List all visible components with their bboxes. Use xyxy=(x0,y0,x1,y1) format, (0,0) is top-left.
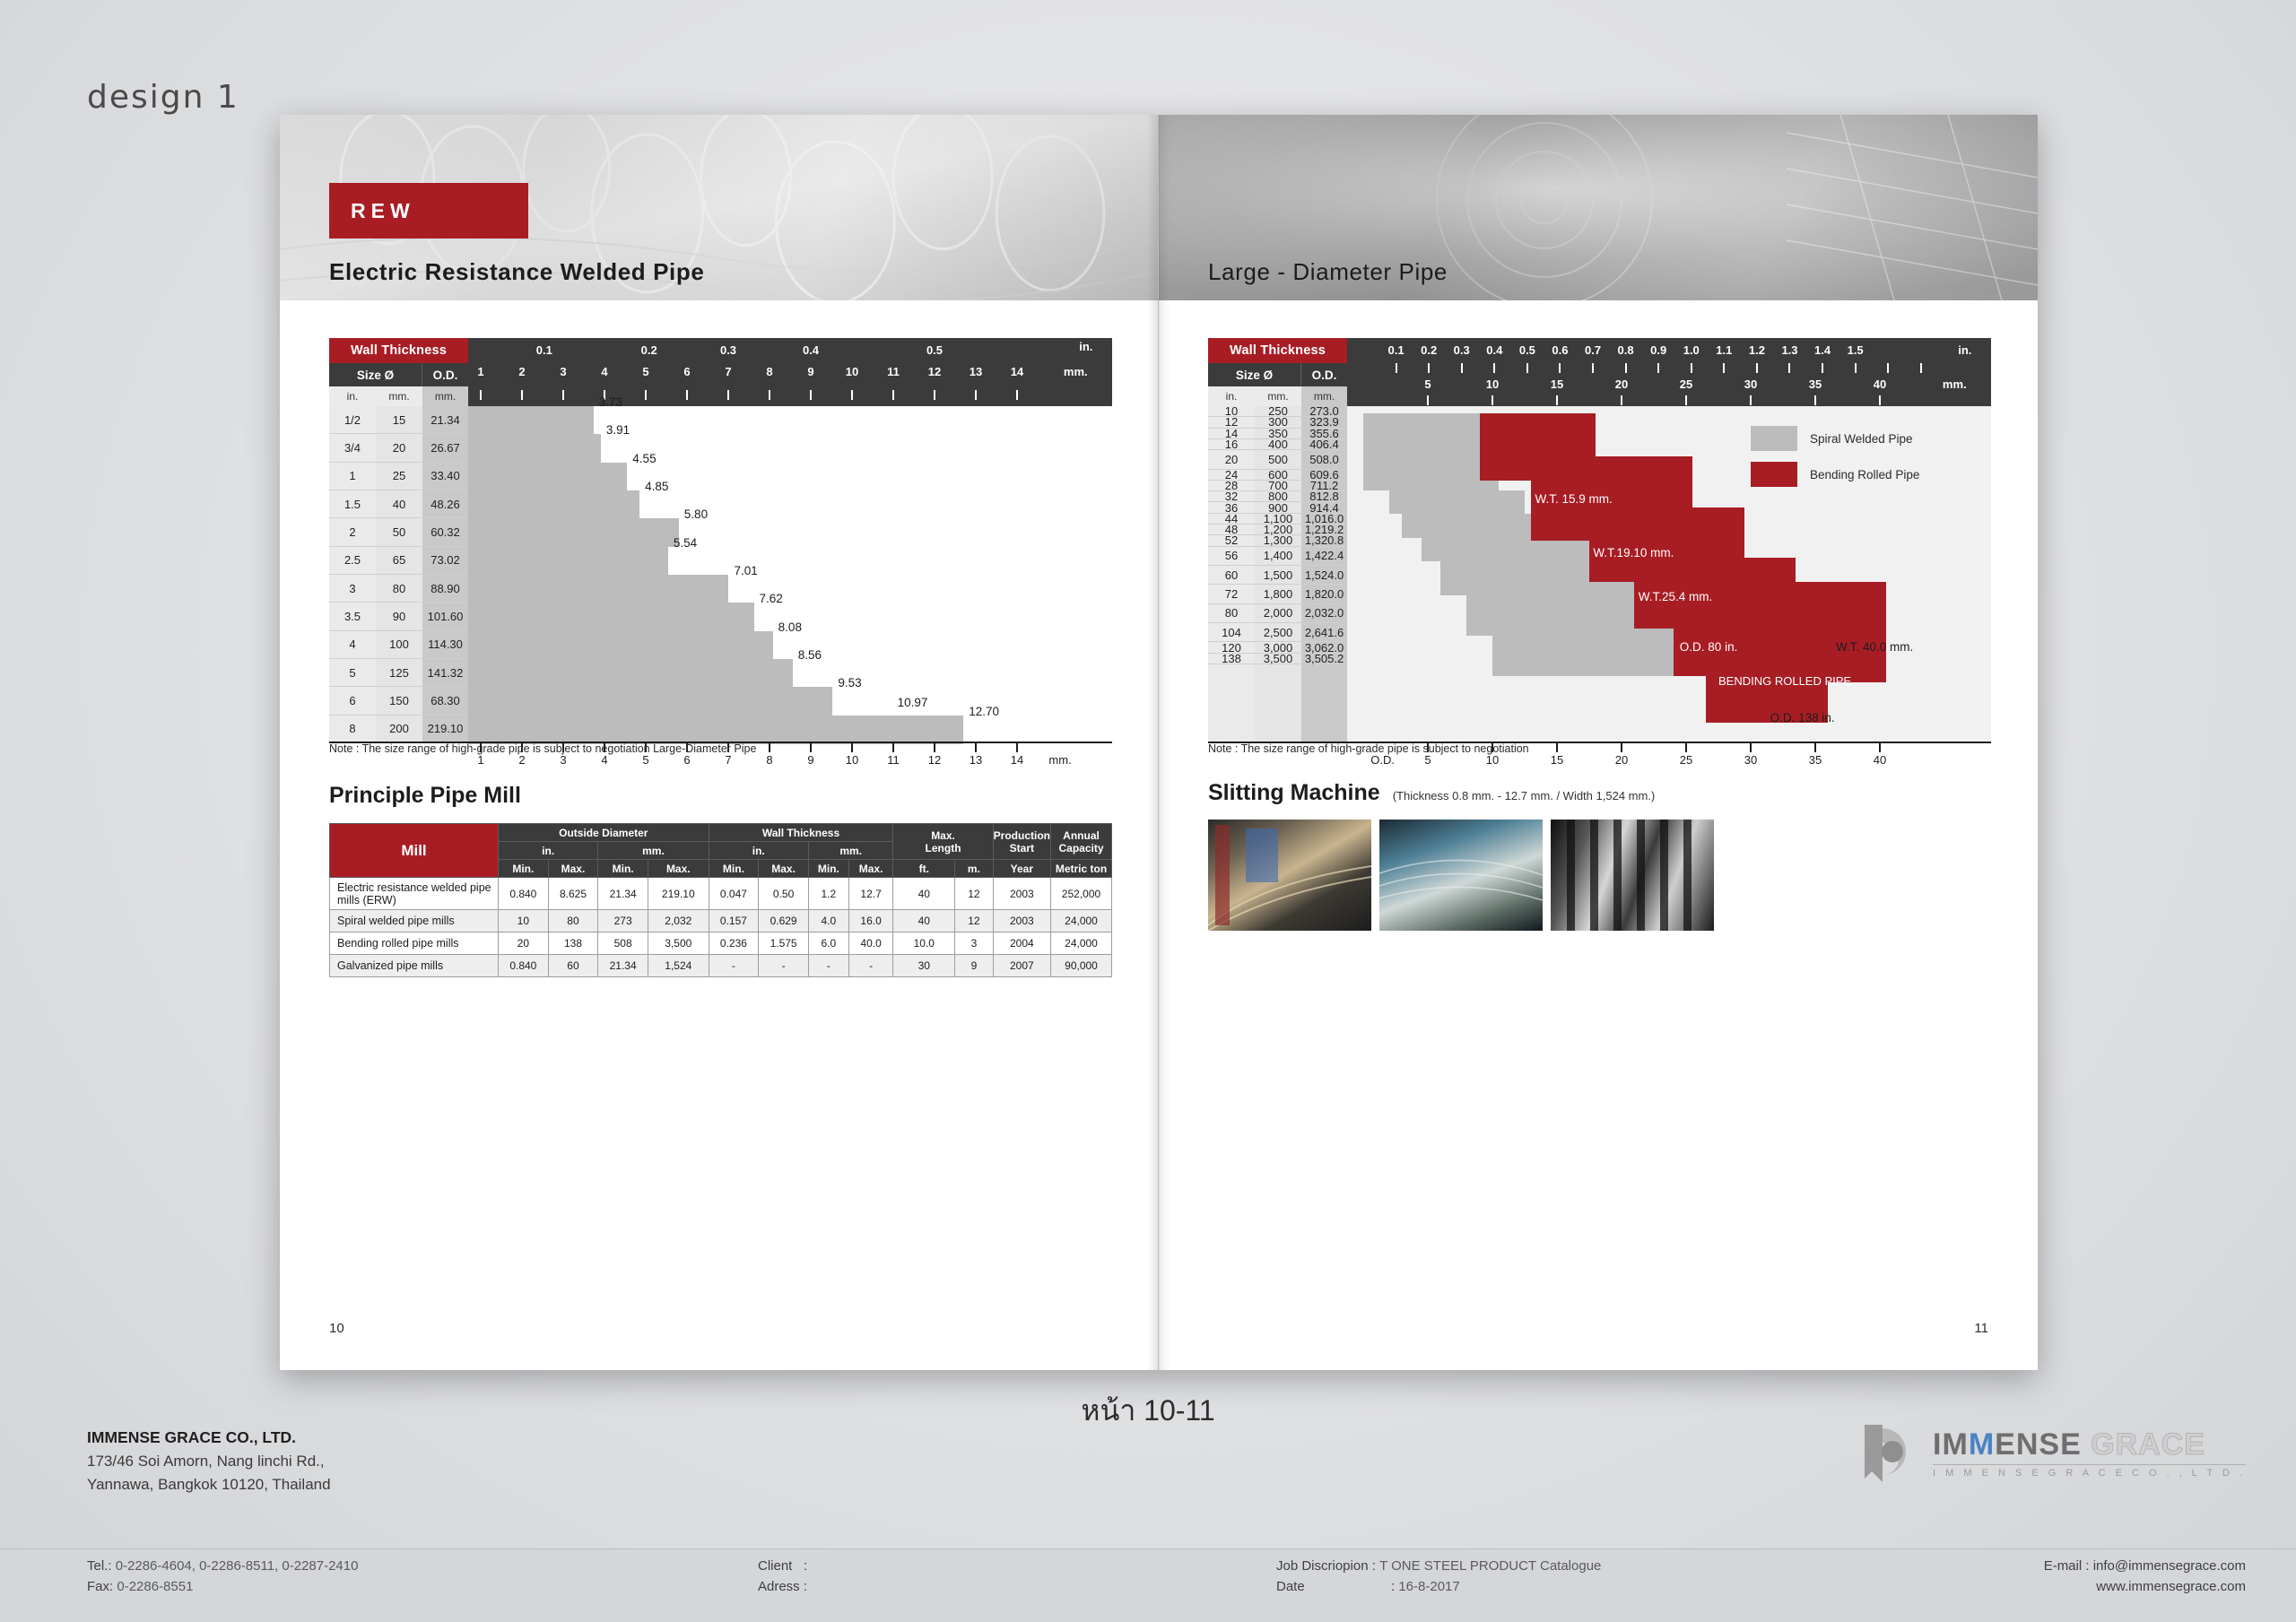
ldp-inch-tick xyxy=(1691,363,1692,373)
footer-job: Job Discriopion : T ONE STEEL PRODUCT Ca… xyxy=(1276,1556,1601,1598)
cell-od-mm-max: 1,524 xyxy=(648,955,709,977)
cell-wt-in-max: 0.629 xyxy=(759,910,809,932)
ppm-wt-mm: mm. xyxy=(808,842,893,860)
table-row: 3/42026.67 xyxy=(329,434,468,462)
job-label: Job Discriopion : xyxy=(1276,1556,1376,1576)
ldp-axis-label: 35 xyxy=(1809,753,1822,767)
table-row: 521,3001,320.8 xyxy=(1208,535,1347,546)
cell-od-mm: 48.26 xyxy=(422,490,468,517)
erw-mm-label: 3 xyxy=(560,365,566,378)
cell-mill: Galvanized pipe mills xyxy=(330,955,499,977)
erw-bar-value: 4.85 xyxy=(645,480,668,493)
logo-tagline: I M M E N S E G R A C E C O . , L T D . xyxy=(1933,1469,2246,1479)
cell-mill: Electric resistance welded pipe mills (E… xyxy=(330,878,499,910)
cell-size-mm: 500 xyxy=(1255,450,1301,468)
ppm-len-ft: ft. xyxy=(893,860,955,878)
ldp-inch-label: 0.2 xyxy=(1421,343,1437,357)
cell-od-mm: 219.10 xyxy=(422,716,468,742)
ppm-wt-mm-max: Max. xyxy=(848,860,893,878)
erw-bar-value: 9.53 xyxy=(838,676,861,690)
erw-axis-label: 9 xyxy=(807,753,813,767)
legend-swatch xyxy=(1751,426,1797,451)
ldp-annotation: W.T. 15.9 mm. xyxy=(1535,492,1613,506)
erw-axis-label: 14 xyxy=(1011,753,1023,767)
cell-od-in-max: 8.625 xyxy=(548,878,598,910)
table-row-filler xyxy=(1208,664,1347,743)
erw-axis-tick xyxy=(1016,743,1018,752)
logo-grace: GRACE xyxy=(2091,1427,2205,1462)
table-row: 8200219.10 xyxy=(329,716,468,743)
large-diameter-chart: Wall Thickness Size Ø O.D. in. mm. mm. i… xyxy=(1208,338,1991,774)
address-line-1: 173/46 Soi Amorn, Nang linchi Rd., xyxy=(87,1450,331,1473)
erw-table-header: Wall Thickness Size Ø O.D. in. mm. mm. xyxy=(329,338,468,406)
left-page-number: 10 xyxy=(329,1321,344,1336)
erw-axis-label: 3 xyxy=(560,753,566,767)
ldp-mm-label: 15 xyxy=(1551,377,1563,391)
erw-tick xyxy=(810,390,812,400)
table-row: 12533.40 xyxy=(329,463,468,490)
ppm-metric-ton: Metric ton xyxy=(1051,860,1112,878)
email-row[interactable]: E-mail : info@immensegrace.com xyxy=(2044,1556,2246,1576)
website-value[interactable]: www.immensegrace.com xyxy=(2096,1579,2246,1594)
table-row: 1042,5002,641.6 xyxy=(1208,623,1347,642)
cell-od-mm-min: 21.34 xyxy=(598,878,648,910)
cell-len-ft: 10.0 xyxy=(893,932,955,955)
company-address: IMMENSE GRACE CO., LTD. 173/46 Soi Amorn… xyxy=(87,1426,331,1497)
legend-item: Bending Rolled Pipe xyxy=(1751,462,1919,487)
email-label: E-mail : xyxy=(2044,1558,2090,1574)
ldp-mm-ticks xyxy=(1347,395,1991,406)
ldp-inch-label: 0.9 xyxy=(1650,343,1666,357)
ldp-mm-scale: mm. 510152025303540 xyxy=(1347,376,1991,395)
ldp-axis-label: 25 xyxy=(1680,753,1692,767)
ppm-capacity-header: Annual Capacity xyxy=(1051,824,1112,860)
cell-size-mm: 90 xyxy=(376,603,422,629)
cell-size-in: 104 xyxy=(1208,623,1255,641)
erw-tick xyxy=(686,390,688,400)
ppm-od-in-min: Min. xyxy=(499,860,549,878)
cell-capacity: 24,000 xyxy=(1051,932,1112,955)
cell-od-in-max: 80 xyxy=(548,910,598,932)
cell-empty xyxy=(1301,664,1347,742)
cell-size-mm: 2,500 xyxy=(1255,623,1301,641)
ppm-wt-in-max: Max. xyxy=(759,860,809,878)
erw-axis-label: 12 xyxy=(928,753,941,767)
ppm-thead: Mill Outside Diameter Wall Thickness Max… xyxy=(330,824,1112,878)
ldp-inch-tick xyxy=(1855,363,1857,373)
cell-od-mm-min: 508 xyxy=(598,932,648,955)
unit-od-mm: mm. xyxy=(422,386,468,406)
ldp-unit-mm: mm. xyxy=(1255,386,1301,406)
ldp-axis-tick xyxy=(1814,743,1816,752)
ldp-mm-tick xyxy=(1685,395,1687,405)
ppm-od-in: in. xyxy=(499,842,598,860)
erw-mm-label: 8 xyxy=(766,365,772,378)
ldp-inch-tick xyxy=(1526,363,1528,373)
ppm-wt-mm-min: Min. xyxy=(808,860,848,878)
ldp-size-header: Size Ø xyxy=(1208,363,1301,386)
ldp-note: Note : The size range of high-grade pipe… xyxy=(1208,742,1529,755)
table-row: 1/21521.34 xyxy=(329,406,468,434)
ldp-annotation: W.T.19.10 mm. xyxy=(1593,546,1674,559)
cell-wt-mm-min: 1.2 xyxy=(808,878,848,910)
erw-note: Note : The size range of high-grade pipe… xyxy=(329,742,756,755)
erw-bar-value: 5.80 xyxy=(684,507,708,521)
ldp-inch-label: 0.5 xyxy=(1519,343,1535,357)
cell-size-in: 2 xyxy=(329,518,376,545)
cell-capacity: 252,000 xyxy=(1051,878,1112,910)
table-row: 4100114.30 xyxy=(329,631,468,659)
ldp-plot: W.T. 15.9 mm.W.T.19.10 mm.W.T.25.4 mm.O.… xyxy=(1347,406,1991,743)
table-row: 38088.90 xyxy=(329,575,468,603)
erw-axis-label: 2 xyxy=(518,753,525,767)
erw-mm-label: 2 xyxy=(518,365,525,378)
ppm-mill-header: Mill xyxy=(330,824,499,878)
ldp-mm-tick xyxy=(1492,395,1493,405)
table-row: 802,0002,032.0 xyxy=(1208,604,1347,623)
table-row: 615068.30 xyxy=(329,687,468,715)
slitting-photo-2 xyxy=(1379,820,1543,931)
ldp-inch-scale: in. 0.10.20.30.40.50.60.70.80.91.01.11.2… xyxy=(1347,338,1991,363)
ldp-unit-in: in. xyxy=(1208,386,1255,406)
footer-email: E-mail : info@immensegrace.com www.immen… xyxy=(2044,1556,2246,1598)
email-value[interactable]: info@immensegrace.com xyxy=(2093,1558,2246,1574)
cell-wt-mm-min: 6.0 xyxy=(808,932,848,955)
erw-tick xyxy=(521,390,523,400)
cell-size-mm: 25 xyxy=(376,463,422,490)
cell-od-mm: 1,524.0 xyxy=(1301,566,1347,584)
ldp-axis-tick xyxy=(1750,743,1752,752)
cell-od-mm-max: 219.10 xyxy=(648,878,709,910)
table-row: 601,5001,524.0 xyxy=(1208,566,1347,585)
cell-od-in-min: 0.840 xyxy=(499,955,549,977)
cell-od-mm-max: 2,032 xyxy=(648,910,709,932)
ppm-prodstart-header: Production Start xyxy=(993,824,1050,860)
cell-size-in: 1.5 xyxy=(329,490,376,517)
cell-year: 2003 xyxy=(993,878,1050,910)
cell-od-mm: 21.34 xyxy=(422,406,468,433)
erw-bar xyxy=(468,463,627,491)
client-address-label: Adress : xyxy=(758,1576,807,1597)
table-row: Electric resistance welded pipe mills (E… xyxy=(330,878,1112,910)
table-row: 16400406.4 xyxy=(1208,439,1347,450)
cell-size-mm: 1,500 xyxy=(1255,566,1301,584)
cell-year: 2004 xyxy=(993,932,1050,955)
fax-row: Fax: 0-2286-8551 xyxy=(87,1576,358,1597)
cell-od-mm: 1,320.8 xyxy=(1301,535,1347,545)
erw-bar-value-extra: 10.97 xyxy=(898,696,928,709)
ldp-inch-tick xyxy=(1920,363,1922,373)
ldp-bending-rolled-block xyxy=(1796,582,1886,683)
address-line-2: Yannawa, Bangkok 10120, Thailand xyxy=(87,1473,331,1496)
ldp-inch-label: 1.4 xyxy=(1814,343,1831,357)
cell-od-mm-min: 21.34 xyxy=(598,955,648,977)
cell-od-mm: 114.30 xyxy=(422,631,468,658)
legend-swatch xyxy=(1751,462,1797,487)
ldp-mm-label: 5 xyxy=(1424,377,1431,391)
ldp-inch-tick xyxy=(1822,363,1823,373)
erw-chart-body: 1/21521.343/42026.6712533.401.54048.2625… xyxy=(329,406,1112,743)
client-address-row[interactable]: Adress : xyxy=(758,1576,811,1597)
erw-scale-unit-in: in. xyxy=(1079,340,1092,353)
erw-bar xyxy=(468,406,594,435)
cell-size-in: 8 xyxy=(329,716,376,742)
erw-scale: 0.10.20.30.40.5 in. mm. 1234567891011121… xyxy=(468,338,1112,406)
cell-size-mm: 15 xyxy=(376,406,422,433)
ppm-body: Electric resistance welded pipe mills (E… xyxy=(330,878,1112,977)
footer-client: Client : Adress : xyxy=(758,1556,811,1598)
cell-od-in-min: 20 xyxy=(499,932,549,955)
od-header: O.D. xyxy=(422,363,468,386)
fax-label: Fax: xyxy=(87,1576,113,1597)
erw-bar xyxy=(468,575,728,603)
ldp-annotation: W.T. 40.0 mm. xyxy=(1836,640,1913,654)
cell-size-in: 2.5 xyxy=(329,547,376,574)
erw-bar xyxy=(468,547,668,576)
ldp-axis-tick xyxy=(1685,743,1687,752)
erw-axis-label: 8 xyxy=(766,753,772,767)
principle-pipe-mill-table: Mill Outside Diameter Wall Thickness Max… xyxy=(329,823,1112,977)
erw-scale-unit-mm: mm. xyxy=(1064,365,1088,378)
ldp-inch-tick xyxy=(1592,363,1594,373)
slitting-machine-title: Slitting Machine xyxy=(1208,780,1380,806)
right-page-number: 11 xyxy=(1974,1321,1988,1336)
cell-wt-in-min: - xyxy=(709,955,759,977)
erw-bar-value: 5.54 xyxy=(674,536,697,550)
logo-ense: ENSE xyxy=(1995,1427,2082,1462)
erw-mm-label: 1 xyxy=(477,365,483,378)
table-row: 721,8001,820.0 xyxy=(1208,585,1347,603)
ldp-inch-tick xyxy=(1788,363,1790,373)
erw-inch-label: 0.5 xyxy=(926,343,943,357)
erw-axis-tick xyxy=(975,743,977,752)
ldp-inch-tick xyxy=(1723,363,1725,373)
cell-size-mm: 400 xyxy=(1255,439,1301,449)
logo-glyph-icon xyxy=(1856,1421,1920,1486)
ldp-inch-ticks xyxy=(1347,363,1991,376)
slitting-photos xyxy=(1208,820,1714,931)
design-label: design 1 xyxy=(87,79,239,116)
cell-wt-in-max: - xyxy=(759,955,809,977)
company-name: IMMENSE GRACE CO., LTD. xyxy=(87,1426,331,1450)
table-row: 2.56573.02 xyxy=(329,547,468,575)
erw-axis-tick xyxy=(892,743,894,752)
ldp-legend: Spiral Welded PipeBending Rolled Pipe xyxy=(1751,426,1919,498)
cell-mill: Bending rolled pipe mills xyxy=(330,932,499,955)
erw-tick xyxy=(562,390,564,400)
erw-mm-label: 5 xyxy=(642,365,648,378)
ldp-mm-label: 20 xyxy=(1615,377,1628,391)
erw-bar-value: 12.70 xyxy=(969,705,999,718)
erw-axis-tick xyxy=(769,743,770,752)
cell-size-mm: 150 xyxy=(376,687,422,714)
cell-size-mm: 1,800 xyxy=(1255,585,1301,603)
cell-size-in: 1 xyxy=(329,463,376,490)
erw-mm-scale: in. mm. 1234567891011121314 xyxy=(468,363,1112,390)
erw-axis-tick xyxy=(851,743,853,752)
cell-od-mm: 68.30 xyxy=(422,687,468,714)
table-row: 1383,5003,505.2 xyxy=(1208,654,1347,664)
ldp-inch-label: 0.4 xyxy=(1486,343,1502,357)
cell-size-in: 6 xyxy=(329,687,376,714)
cell-size-in: 1/2 xyxy=(329,406,376,433)
erw-units-row: in. mm. mm. xyxy=(329,386,468,406)
ppm-wt-in-min: Min. xyxy=(709,860,759,878)
erw-bar-value: 8.56 xyxy=(798,648,822,662)
erw-bar-value: 7.01 xyxy=(734,564,757,577)
table-row: 561,4001,422.4 xyxy=(1208,547,1347,566)
cell-size-mm: 20 xyxy=(376,434,422,461)
cell-od-mm: 60.32 xyxy=(422,518,468,545)
cell-len-m: 12 xyxy=(955,910,994,932)
table-row: 20500508.0 xyxy=(1208,450,1347,469)
erw-tick xyxy=(480,390,482,400)
wall-thickness-header: Wall Thickness xyxy=(329,338,468,363)
cell-year: 2007 xyxy=(993,955,1050,977)
cell-od-in-max: 138 xyxy=(548,932,598,955)
ldp-inch-tick xyxy=(1756,363,1758,373)
ldp-od-header: O.D. xyxy=(1301,363,1347,386)
erw-mm-label: 10 xyxy=(846,365,858,378)
table-row: 3.590101.60 xyxy=(329,603,468,630)
table-row: Spiral welded pipe mills10802732,0320.15… xyxy=(330,910,1112,932)
cell-wt-mm-max: 12.7 xyxy=(848,878,893,910)
website-row[interactable]: www.immensegrace.com xyxy=(2044,1576,2246,1597)
ppm-od-mm: mm. xyxy=(598,842,709,860)
erw-inch-scale: 0.10.20.30.40.5 xyxy=(468,338,1112,363)
slitting-photo-3 xyxy=(1551,820,1714,931)
ppm-od-header: Outside Diameter xyxy=(499,824,709,842)
cell-size-in: 138 xyxy=(1208,654,1255,664)
cell-size-mm: 40 xyxy=(376,490,422,517)
erw-axis-label: 1 xyxy=(477,753,483,767)
coil-strip-icon xyxy=(1208,820,1371,931)
cell-wt-in-max: 1.575 xyxy=(759,932,809,955)
erw-bar xyxy=(468,434,601,463)
erw-axis-tick xyxy=(810,743,812,752)
date-row: Date : 16-8-2017 xyxy=(1276,1576,1601,1597)
ldp-axis-label: 20 xyxy=(1615,753,1628,767)
erw-tick xyxy=(975,390,977,400)
ldp-axis-label: 10 xyxy=(1486,753,1499,767)
ldp-inch-label: 0.3 xyxy=(1454,343,1470,357)
cell-od-mm: 3,505.2 xyxy=(1301,654,1347,664)
cell-year: 2003 xyxy=(993,910,1050,932)
erw-axis-label: 13 xyxy=(970,753,982,767)
cell-wt-mm-max: - xyxy=(848,955,893,977)
ldp-spiral-welded-block xyxy=(1363,413,1480,474)
ldp-mm-tick xyxy=(1879,395,1881,405)
ldp-unit-od-mm: mm. xyxy=(1301,386,1347,406)
cell-size-in: 3.5 xyxy=(329,603,376,629)
ldp-annotation: O.D. 80 in. xyxy=(1680,640,1738,654)
ldp-axis-label: 15 xyxy=(1551,753,1563,767)
ldp-inch-tick xyxy=(1887,363,1889,373)
erw-bar-value: 3.73 xyxy=(599,395,622,409)
erw-axis-label: 4 xyxy=(601,753,607,767)
erw-mm-label: 13 xyxy=(970,365,982,378)
erw-mm-label: 14 xyxy=(1011,365,1023,378)
erw-bar xyxy=(468,716,963,744)
erw-mm-label: 4 xyxy=(601,365,607,378)
cell-wt-in-min: 0.157 xyxy=(709,910,759,932)
date-label: Date xyxy=(1276,1576,1391,1597)
ldp-table-header: Wall Thickness Size Ø O.D. in. mm. mm. xyxy=(1208,338,1347,406)
erw-inch-label: 0.4 xyxy=(803,343,819,357)
legend-label: Spiral Welded Pipe xyxy=(1810,432,1913,446)
table-row: Bending rolled pipe mills201385083,5000.… xyxy=(330,932,1112,955)
cell-od-mm: 2,641.6 xyxy=(1301,623,1347,641)
erw-axis-unit: mm. xyxy=(1048,753,1071,767)
ldp-annotation: O.D. 138 in. xyxy=(1770,711,1835,724)
legend-item: Spiral Welded Pipe xyxy=(1751,426,1919,451)
cell-od-mm: 406.4 xyxy=(1301,439,1347,449)
erw-mm-label: 11 xyxy=(887,365,900,378)
ppm-year: Year xyxy=(993,860,1050,878)
cell-size-in: 20 xyxy=(1208,450,1255,468)
cell-od-mm: 508.0 xyxy=(1301,450,1347,468)
size-od-header: Size Ø O.D. xyxy=(329,363,468,386)
ldp-inch-label: 0.1 xyxy=(1388,343,1405,357)
logo-wordmark: IMMENSE GRACE xyxy=(1933,1429,2246,1460)
ldp-inch-label: 1.2 xyxy=(1749,343,1765,357)
slitting-machine-heading: Slitting Machine (Thickness 0.8 mm. - 12… xyxy=(1208,780,1655,806)
cell-size-mm: 125 xyxy=(376,659,422,686)
erw-mm-label: 7 xyxy=(725,365,731,378)
erw-bar xyxy=(468,603,754,631)
erw-axis-label: 11 xyxy=(887,753,900,767)
ldp-wall-thickness-header: Wall Thickness xyxy=(1208,338,1347,363)
cell-size-in: 56 xyxy=(1208,547,1255,565)
cell-od-mm: 1,422.4 xyxy=(1301,547,1347,565)
erw-bar xyxy=(468,659,793,688)
cell-od-in-min: 10 xyxy=(499,910,549,932)
cell-size-in: 60 xyxy=(1208,566,1255,584)
cell-size-in: 72 xyxy=(1208,585,1255,603)
cell-len-ft: 40 xyxy=(893,910,955,932)
ldp-inch-label: 1.0 xyxy=(1683,343,1700,357)
unit-in: in. xyxy=(329,386,376,406)
cell-size-in: 80 xyxy=(1208,604,1255,622)
erw-bar-value: 4.55 xyxy=(632,452,656,465)
right-page: Large - Diameter Pipe Wall Thickness Siz… xyxy=(1159,115,2038,1370)
table-row: 1.54048.26 xyxy=(329,490,468,518)
cell-empty xyxy=(1208,664,1255,742)
ppm-wt-header: Wall Thickness xyxy=(709,824,893,842)
erw-axis-label: 10 xyxy=(846,753,858,767)
job-row: Job Discriopion : T ONE STEEL PRODUCT Ca… xyxy=(1276,1556,1601,1576)
cell-capacity: 90,000 xyxy=(1051,955,1112,977)
ldp-chart-body: 10250273.012300323.914350355.616400406.4… xyxy=(1208,406,1991,743)
slitting-machine-subtitle: (Thickness 0.8 mm. - 12.7 mm. / Width 1,… xyxy=(1393,789,1656,802)
ppm-od-mm-min: Min. xyxy=(598,860,648,878)
cell-od-mm: 141.32 xyxy=(422,659,468,686)
cell-size-in: 52 xyxy=(1208,535,1255,545)
cell-od-mm: 2,032.0 xyxy=(1301,604,1347,622)
erw-bar-value: 7.62 xyxy=(760,592,783,605)
logo-mark-icon xyxy=(1856,1421,1920,1486)
cell-capacity: 24,000 xyxy=(1051,910,1112,932)
erw-scale-ticks xyxy=(468,390,1112,406)
rew-tag: REW xyxy=(329,183,528,239)
ldp-inch-label: 1.3 xyxy=(1781,343,1797,357)
cell-od-mm: 26.67 xyxy=(422,434,468,461)
client-row[interactable]: Client : xyxy=(758,1556,811,1576)
cell-od-mm: 1,820.0 xyxy=(1301,585,1347,603)
ldp-mm-tick xyxy=(1814,395,1816,405)
ldp-chart-header: Wall Thickness Size Ø O.D. in. mm. mm. i… xyxy=(1208,338,1991,406)
cell-size-mm: 100 xyxy=(376,631,422,658)
